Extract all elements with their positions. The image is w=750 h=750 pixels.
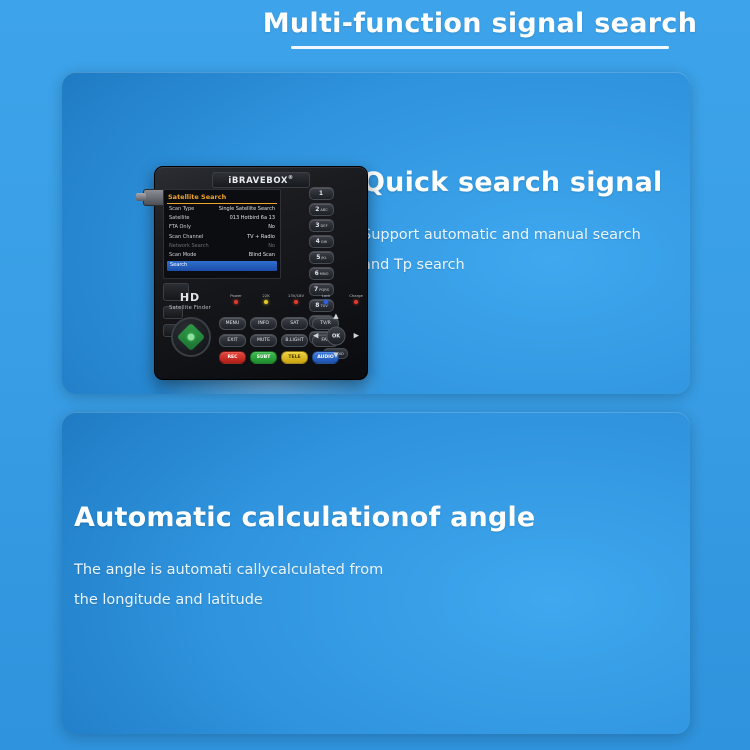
menu-row-search-selected[interactable]: Search [167,261,277,271]
menu-row-satellite[interactable]: Satellite 013 Hotbird 6a 13 [167,214,277,223]
led-charge-label: Charge [345,293,367,298]
page-title: Multi-function signal search [263,8,698,39]
feature-panel-angle-calculation: Automatic calculationof angle The angle … [62,412,690,734]
key-3-sub: DEF [321,224,328,228]
arrow-right-icon[interactable]: ▶ [354,333,359,340]
menu-value-network-search: No [268,242,275,251]
teletext-button[interactable]: TELE [281,351,308,364]
device-photo-search: iBRAVEBOX® Satellite Search Scan Type Si… [140,160,400,394]
rec-button[interactable]: REC [219,351,246,364]
key-4[interactable]: 4GHI [309,235,334,248]
led-power: Power [225,293,247,304]
panel-1-subtext-line-2: and Tp search [362,250,662,280]
menu-row-scan-mode[interactable]: Scan Mode Blind Scan [167,251,277,260]
sat-button[interactable]: SAT [281,317,308,330]
panel-2-subtext-line-2: the longitude and latitude [74,585,535,615]
hd-text: HD [161,291,219,304]
key-7-num: 7 [314,286,318,293]
menu-label-network-search: Network Search [169,242,209,251]
page-header: Multi-function signal search [0,8,750,64]
led-charge: Charge [345,293,367,304]
panel-2-subtext-line-1: The angle is automati callycalculated fr… [74,555,535,585]
mute-button[interactable]: MUTE [250,334,277,347]
led-13v-18v-dot [294,300,298,304]
subtitle-button[interactable]: SUBT [250,351,277,364]
led-13v-18v: 13V/18V [285,293,307,304]
title-underline [291,46,669,49]
panel-2-heading: Automatic calculationof angle [74,502,535,533]
feature-panel-quick-search: Quick search signal Support automatic an… [62,72,690,394]
menu-button[interactable]: MENU [219,317,246,330]
menu-value-scan-type: Single Satellite Search [219,205,275,214]
led-indicator-group-1: Power 22K 13V/18V Lock [225,293,367,304]
menu-row-scan-type[interactable]: Scan Type Single Satellite Search [167,205,277,214]
menu-value-fta-only: No [268,223,275,232]
led-lock-label: Lock [315,293,337,298]
screen-title-satellite-search: Satellite Search [167,192,277,204]
brand-plate: iBRAVEBOX® [212,172,310,188]
key-3[interactable]: 3DEF [309,219,334,232]
key-4-num: 4 [316,238,320,245]
exit-button[interactable]: EXIT [219,334,246,347]
menu-label-scan-channel: Scan Channel [169,233,203,242]
key-1-num: 1 [319,190,323,197]
info-button[interactable]: INFO [250,317,277,330]
arrow-up-icon[interactable]: ▲ [333,313,338,320]
led-lock-dot [324,300,328,304]
brand-name: iBRAVEBOX [228,175,288,185]
key-5-sub: JKL [321,256,326,260]
screen-menu-list: Scan Type Single Satellite Search Satell… [167,205,277,276]
hd-branding: HD Satellite Finder [161,291,219,311]
led-lock: Lock [315,293,337,304]
menu-label-fta-only: FTA Only [169,223,191,232]
key-8-sub: TUV [320,304,327,308]
key-5-num: 5 [316,254,320,261]
led-13v-18v-label: 13V/18V [285,293,307,298]
menu-label-scan-type: Scan Type [169,205,194,214]
menu-value-scan-channel: TV + Radio [247,233,275,242]
key-3-num: 3 [315,222,319,229]
led-22k-label: 22K [255,293,277,298]
panel-1-subtext-line-1: Support automatic and manual search [362,220,662,250]
panel-1-text-block: Quick search signal Support automatic an… [362,167,662,280]
model-text: Satellite Finder [161,305,219,311]
device-reflection-1 [154,382,366,394]
arrow-left-icon[interactable]: ◀ [313,333,318,340]
brand-registered-mark: ® [288,175,294,181]
key-2-num: 2 [315,206,319,213]
device-screen-satellite-search: Satellite Search Scan Type Single Satell… [163,189,281,279]
key-2-sub: ABC [320,208,327,212]
led-power-label: Power [225,293,247,298]
key-7-sub: PQRS [319,288,329,292]
led-22k-dot [264,300,268,304]
key-6-num: 6 [315,270,319,277]
key-1[interactable]: 1 [309,187,334,200]
direction-pad-1: ▲ ▼ ◀ ▶ OK [313,313,359,359]
menu-row-scan-channel[interactable]: Scan Channel TV + Radio [167,233,277,242]
menu-label-scan-mode: Scan Mode [169,251,196,260]
menu-label-satellite: Satellite [169,214,189,223]
ok-button[interactable]: OK [327,327,346,346]
key-4-sub: GHI [321,240,328,244]
compass-icon [171,317,211,357]
menu-row-network-search: Network Search No [167,242,277,251]
menu-value-scan-mode: Blind Scan [249,251,275,260]
menu-value-satellite: 013 Hotbird 6a 13 [230,214,275,223]
satellite-finder-device-1: iBRAVEBOX® Satellite Search Scan Type Si… [154,166,368,380]
key-6[interactable]: 6MNO [309,267,334,280]
page-background: Multi-function signal search Quick searc… [0,0,750,750]
panel-2-text-block: Automatic calculationof angle The angle … [74,502,535,615]
key-2[interactable]: 2ABC [309,203,334,216]
led-power-dot [234,300,238,304]
key-6-sub: MNO [320,272,329,276]
menu-row-fta-only[interactable]: FTA Only No [167,223,277,232]
backlight-button[interactable]: B.LIGHT [281,334,308,347]
led-charge-dot [354,300,358,304]
key-5[interactable]: 5JKL [309,251,334,264]
panel-1-heading: Quick search signal [362,167,662,198]
led-22k: 22K [255,293,277,304]
arrow-down-icon[interactable]: ▼ [333,352,338,359]
